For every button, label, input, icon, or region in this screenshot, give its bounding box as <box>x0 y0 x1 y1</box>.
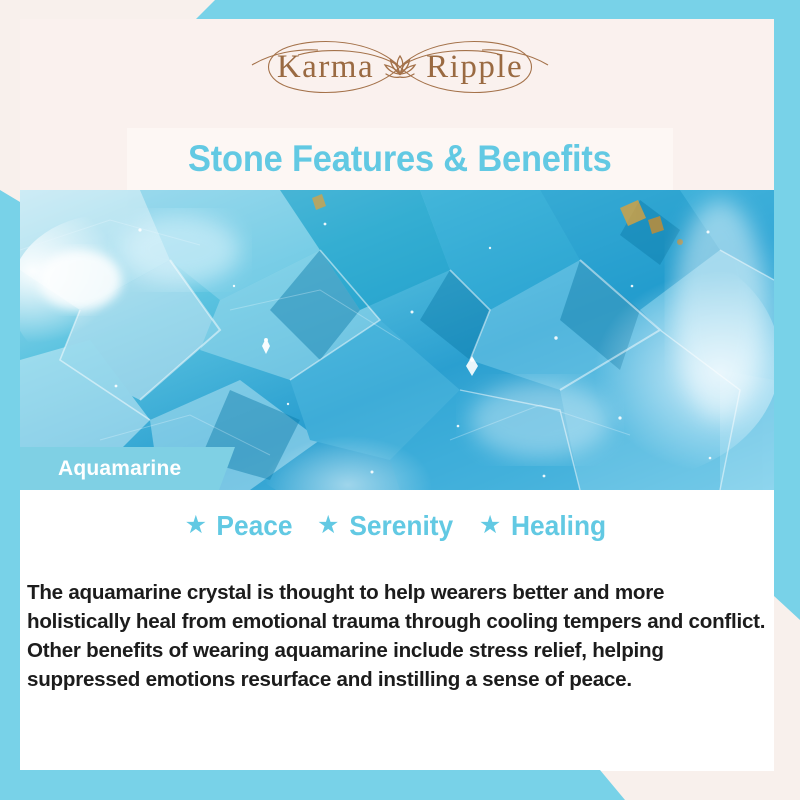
description-paragraph: The aquamarine crystal is thought to hel… <box>27 578 769 694</box>
brand-name-left: Karma <box>277 51 374 84</box>
star-icon: ★ <box>185 513 207 538</box>
keyword-label-serenity: Serenity <box>350 510 454 542</box>
frame-bar-left <box>0 190 20 800</box>
lotus-icon <box>380 47 420 87</box>
brand-logo: Karma Ripple <box>0 28 800 106</box>
section-title-band: Stone Features & Benefits <box>127 128 673 190</box>
keyword-label-healing: Healing <box>511 510 606 542</box>
stone-benefits-poster: Karma Ripple Stone Features & Benefits <box>0 0 800 800</box>
frame-bar-bottom <box>0 770 800 800</box>
keyword-item-serenity: ★ Serenity <box>317 510 457 542</box>
star-icon: ★ <box>317 513 339 538</box>
keyword-item-healing: ★ Healing <box>479 510 610 542</box>
frame-bar-top <box>0 0 800 19</box>
stone-name-label: Aquamarine <box>58 457 181 481</box>
crystal-image <box>20 190 774 490</box>
keyword-item-peace: ★ Peace <box>185 510 295 542</box>
keyword-label-peace: Peace <box>216 510 292 542</box>
content-card: ★ Peace ★ Serenity ★ Healing The aquamar… <box>20 490 774 771</box>
star-icon: ★ <box>479 513 501 538</box>
brand-name-right: Ripple <box>426 51 523 84</box>
aquamarine-crystal-photo <box>20 190 774 490</box>
keyword-list: ★ Peace ★ Serenity ★ Healing <box>20 510 774 542</box>
page-title: Stone Features & Benefits <box>188 138 612 180</box>
stone-name-badge: Aquamarine <box>20 447 235 490</box>
